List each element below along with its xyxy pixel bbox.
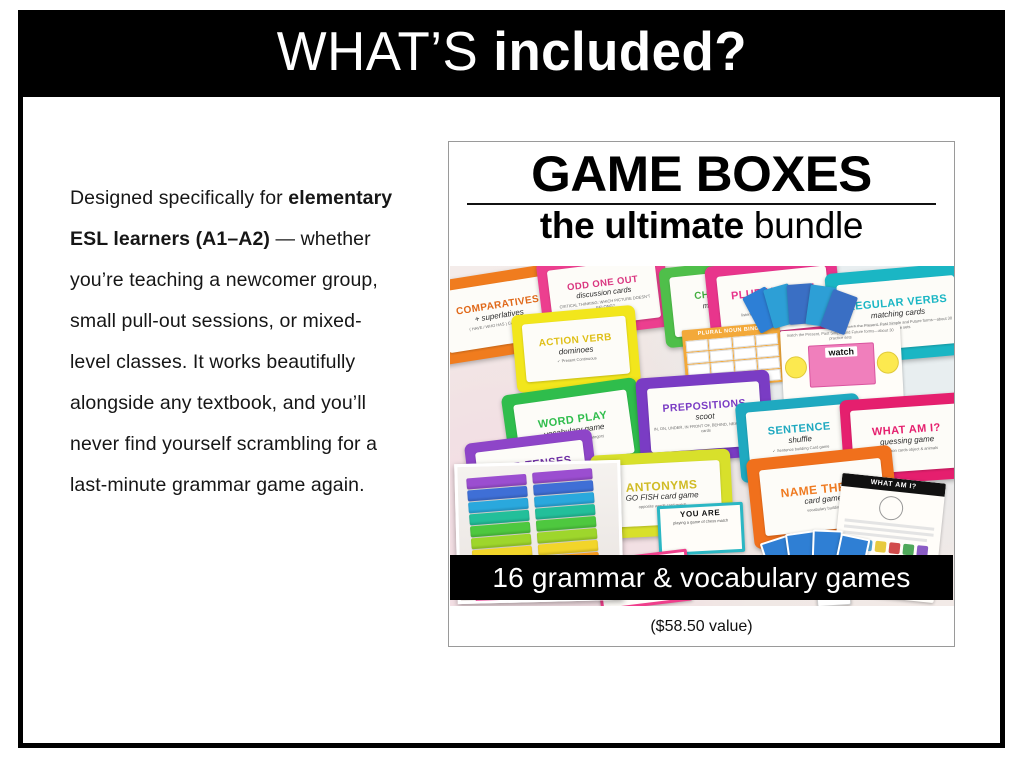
page-title-bold: included? <box>493 20 747 82</box>
description-paragraph: Designed specifically for elementary ESL… <box>70 178 402 506</box>
page-title: WHAT’S included? <box>276 24 746 79</box>
description-part-3: — whether you’re teaching a newcomer gro… <box>70 228 378 496</box>
product-value-line: ($58.50 value) <box>449 618 954 636</box>
product-title-main: GAME BOXES <box>458 148 945 201</box>
product-subtitle-bold: the ultimate <box>540 205 744 246</box>
page-title-light: WHAT’S <box>276 20 492 82</box>
game-box-subtitle: scoot <box>695 412 715 421</box>
game-box-subtitle: GO FISH card game <box>626 491 699 503</box>
card-fan <box>750 284 860 348</box>
game-box-note: vocabulary building <box>807 504 842 513</box>
game-box-subtitle: dominoes <box>559 345 594 356</box>
product-subtitle-regular: bundle <box>744 205 863 246</box>
product-banner-text: 16 grammar & vocabulary games <box>492 562 910 594</box>
game-box-note: ✓ Present Continuous <box>557 355 597 363</box>
you-are-card-1: YOU ARE playing a game of chess match <box>657 502 745 556</box>
game-box-subtitle: shuffle <box>788 435 812 445</box>
header-bar: WHAT’S included? <box>18 10 1005 92</box>
description-column: Designed specifically for elementary ESL… <box>70 178 402 506</box>
description-part-1: Designed specifically for <box>70 187 288 209</box>
product-banner: 16 grammar & vocabulary games <box>450 555 953 600</box>
you-are-card-sub: playing a game of chess match <box>664 518 738 527</box>
game-box-label: ACTION VERB dominoes ✓ Present Continuou… <box>522 316 631 383</box>
product-title-block: GAME BOXES the ultimate bundle <box>449 148 954 247</box>
product-subtitle: the ultimate bundle <box>463 206 940 247</box>
product-preview-card[interactable]: GAME BOXES the ultimate bundle COMPARATI… <box>448 141 955 647</box>
